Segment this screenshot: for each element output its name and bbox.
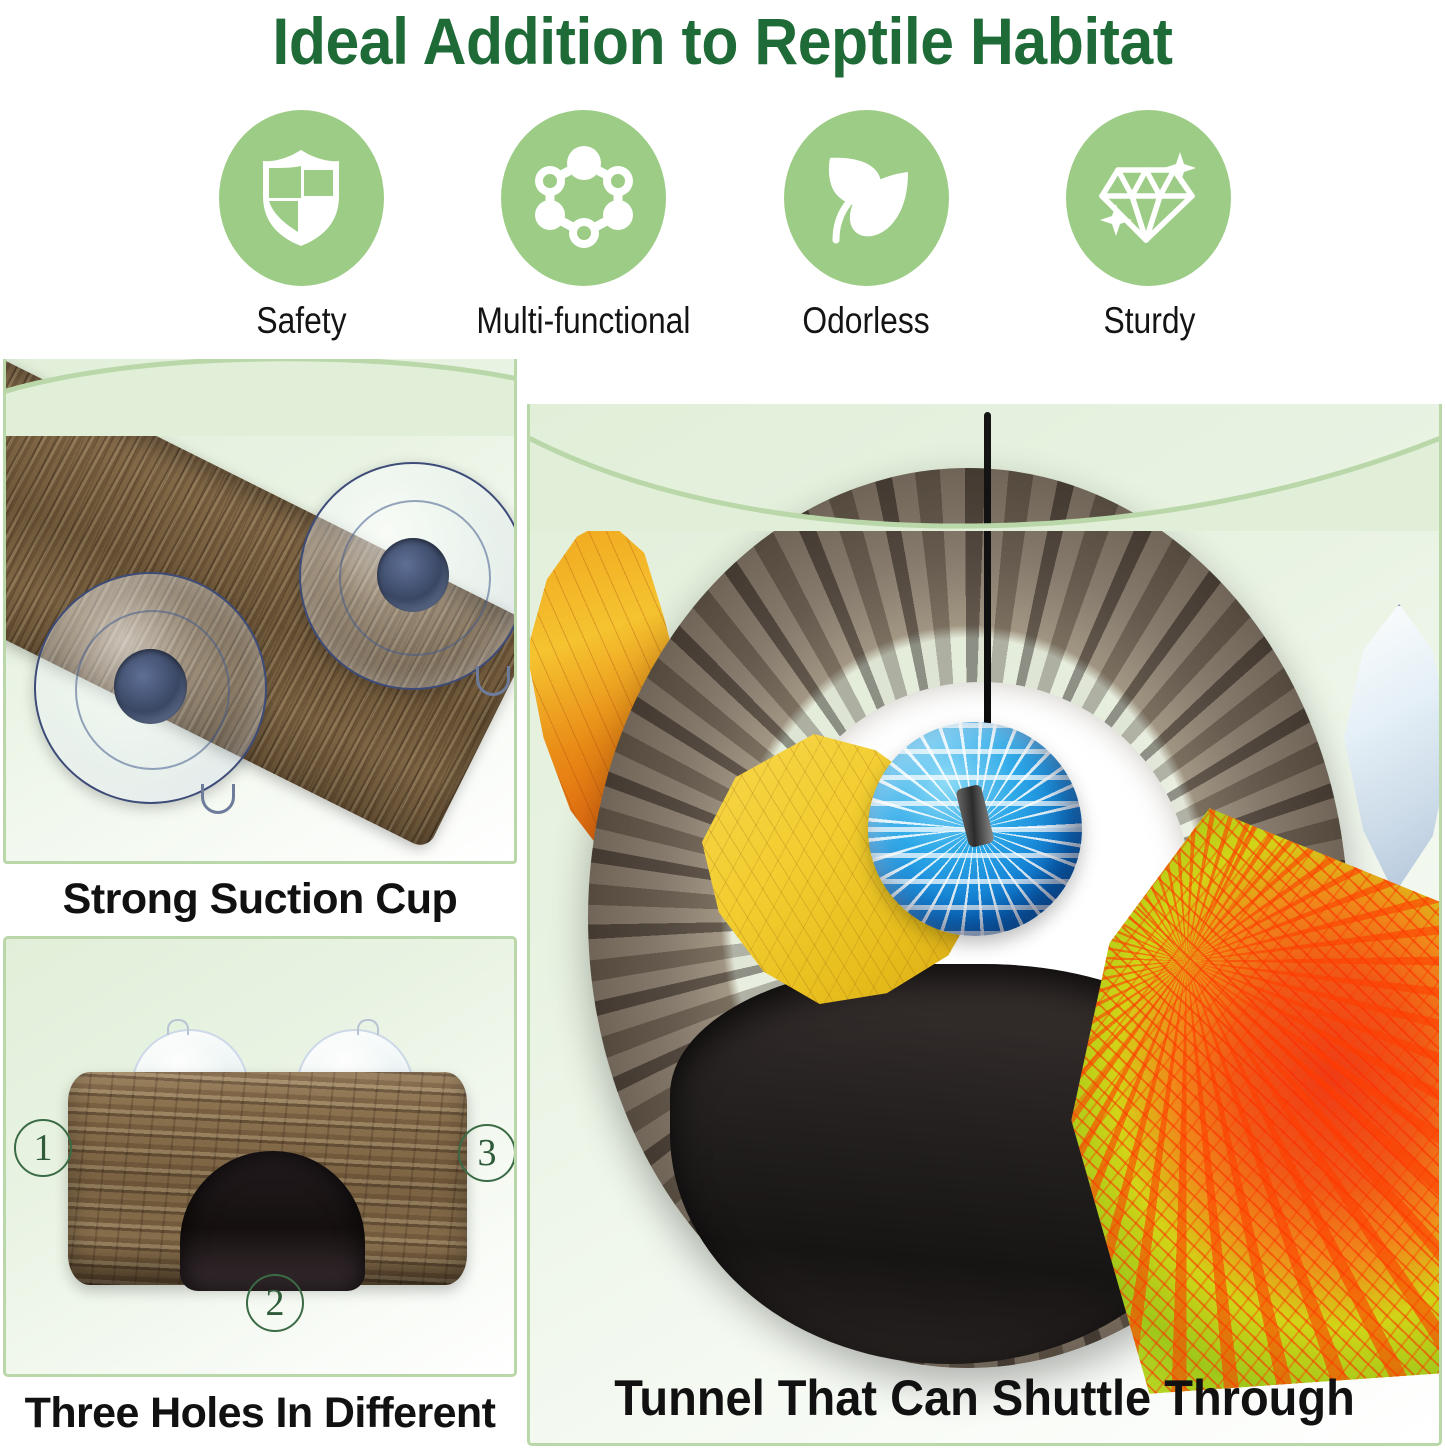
feature-label: Safety [256, 300, 346, 342]
tunnel-photo [530, 404, 1439, 1443]
suction-cup-hook [476, 666, 510, 696]
blue-lattice-ball [868, 722, 1082, 936]
hanging-cord [984, 412, 991, 738]
panel-three-holes: 1 2 3 [3, 936, 517, 1377]
feature-label: Sturdy [1103, 300, 1195, 342]
three-holes-photo: 1 2 3 [6, 939, 514, 1374]
page-title: Ideal Addition to Reptile Habitat [58, 4, 1387, 78]
hole-marker-1: 1 [14, 1119, 72, 1177]
caption-suction-cup: Strong Suction Cup [3, 874, 517, 924]
suction-cup [299, 462, 514, 690]
caption-three-holes: Three Holes In Different [3, 1388, 517, 1438]
suction-cup-hook [201, 784, 235, 814]
network-nodes-icon [532, 145, 636, 251]
log-opening [180, 1151, 365, 1291]
leaf-icon [814, 148, 918, 248]
feature-badge [1066, 110, 1231, 286]
feature-item-safety: Safety [160, 110, 442, 342]
clear-plastic-leaf [1332, 604, 1439, 894]
suction-cup [34, 572, 267, 804]
feature-item-sturdy: Sturdy [1008, 110, 1290, 342]
caption-tunnel: Tunnel That Can Shuttle Through [557, 1369, 1411, 1427]
feature-item-odorless: Odorless [725, 110, 1007, 342]
feature-item-multi-functional: Multi-functional [443, 110, 725, 342]
diamond-icon [1096, 146, 1202, 250]
feature-badge [501, 110, 666, 286]
hole-marker-2: 2 [246, 1274, 304, 1332]
ball-bell [955, 784, 995, 849]
bark-log-hide [68, 1072, 467, 1285]
feature-highlights: Safety Multi- [160, 110, 1290, 350]
suction-cup-hook [167, 1019, 189, 1035]
feature-badge [784, 110, 949, 286]
feature-badge [219, 110, 384, 286]
shield-icon [255, 146, 347, 250]
feature-label: Multi-functional [477, 300, 691, 342]
feature-label: Odorless [803, 300, 930, 342]
suction-cup-photo [6, 359, 514, 861]
panel-suction-cup [3, 359, 517, 864]
panel-tunnel: Tunnel That Can Shuttle Through [527, 404, 1442, 1446]
hole-marker-3: 3 [458, 1124, 514, 1182]
suction-cup-hook [357, 1019, 379, 1035]
